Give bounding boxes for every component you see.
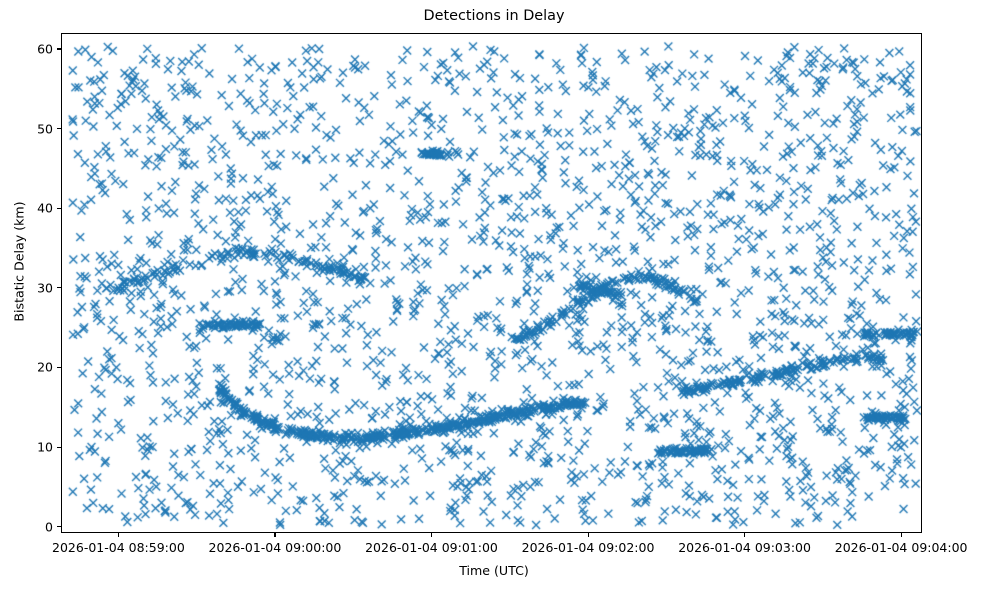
y-tick-label: 20 <box>37 360 53 375</box>
matplotlib-figure: Detections in Delay 0102030405060 2026-0… <box>0 0 988 590</box>
x-tick-label: 2026-01-04 09:03:00 <box>678 540 811 555</box>
y-tick-label: 50 <box>37 121 53 136</box>
y-tick-label: 10 <box>37 440 53 455</box>
x-tick-mark <box>588 533 589 537</box>
x-tick-label: 2026-01-04 09:01:00 <box>365 540 498 555</box>
y-axis-label: Bistatic Delay (km) <box>12 112 27 412</box>
y-tick-label: 0 <box>45 519 53 534</box>
y-tick-mark <box>57 526 61 527</box>
x-tick-mark <box>744 533 745 537</box>
y-tick-mark <box>57 48 61 49</box>
x-tick-label: 2026-01-04 09:00:00 <box>209 540 342 555</box>
scatter-plot-canvas <box>62 34 922 533</box>
y-tick-mark <box>57 447 61 448</box>
plot-area <box>61 33 922 533</box>
x-tick-label: 2026-01-04 08:59:00 <box>52 540 185 555</box>
x-tick-label: 2026-01-04 09:04:00 <box>835 540 968 555</box>
x-tick-mark <box>274 533 275 537</box>
x-axis-label: Time (UTC) <box>0 563 988 578</box>
y-tick-label: 60 <box>37 41 53 56</box>
y-tick-mark <box>57 128 61 129</box>
x-tick-mark <box>118 533 119 537</box>
y-tick-mark <box>57 367 61 368</box>
y-axis-tick-labels: 0102030405060 <box>0 0 53 590</box>
x-tick-mark <box>431 533 432 537</box>
y-tick-label: 30 <box>37 280 53 295</box>
page-title: Detections in Delay <box>0 8 988 24</box>
y-tick-label: 40 <box>37 201 53 216</box>
x-tick-label: 2026-01-04 09:02:00 <box>522 540 655 555</box>
y-tick-mark <box>57 208 61 209</box>
x-tick-mark <box>901 533 902 537</box>
y-tick-mark <box>57 287 61 288</box>
